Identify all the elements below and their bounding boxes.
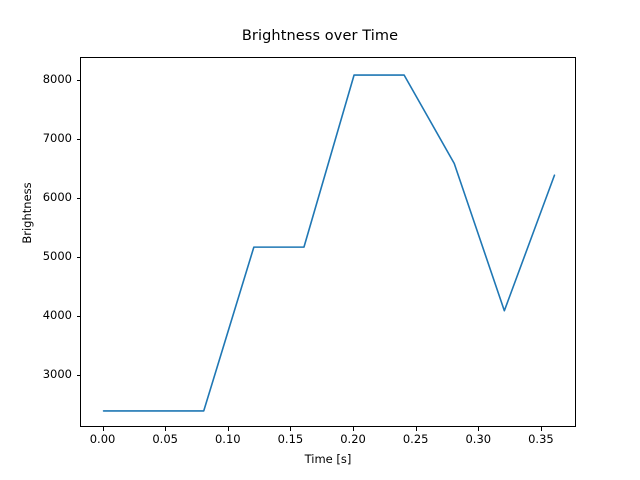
- x-tick-mark: [353, 427, 354, 431]
- x-tick-label: 0.35: [511, 432, 571, 446]
- y-tick-mark: [77, 316, 81, 317]
- x-tick-label: 0.00: [73, 432, 133, 446]
- y-tick-mark: [77, 80, 81, 81]
- x-tick-label: 0.25: [386, 432, 446, 446]
- y-tick-label: 4000: [18, 308, 72, 322]
- chart-title: Brightness over Time: [0, 28, 640, 44]
- brightness-line: [104, 75, 555, 411]
- line-series-svg: [81, 58, 577, 428]
- matplotlib-figure: Brightness over Time 0.000.050.100.150.2…: [0, 0, 640, 480]
- y-tick-mark: [77, 198, 81, 199]
- x-tick-label: 0.05: [135, 432, 195, 446]
- x-tick-label: 0.30: [448, 432, 508, 446]
- plot-axes-area: [80, 57, 576, 427]
- x-tick-mark: [541, 427, 542, 431]
- y-tick-label: 3000: [18, 367, 72, 381]
- x-tick-mark: [478, 427, 479, 431]
- x-tick-mark: [228, 427, 229, 431]
- y-tick-label: 8000: [18, 72, 72, 86]
- x-tick-mark: [103, 427, 104, 431]
- y-axis-label: Brightness: [20, 143, 34, 283]
- y-tick-mark: [77, 139, 81, 140]
- x-tick-label: 0.15: [260, 432, 320, 446]
- x-tick-mark: [165, 427, 166, 431]
- x-tick-label: 0.10: [198, 432, 258, 446]
- x-tick-mark: [290, 427, 291, 431]
- x-tick-label: 0.20: [323, 432, 383, 446]
- x-tick-mark: [416, 427, 417, 431]
- y-tick-mark: [77, 257, 81, 258]
- y-tick-mark: [77, 375, 81, 376]
- x-axis-label: Time [s]: [80, 452, 576, 466]
